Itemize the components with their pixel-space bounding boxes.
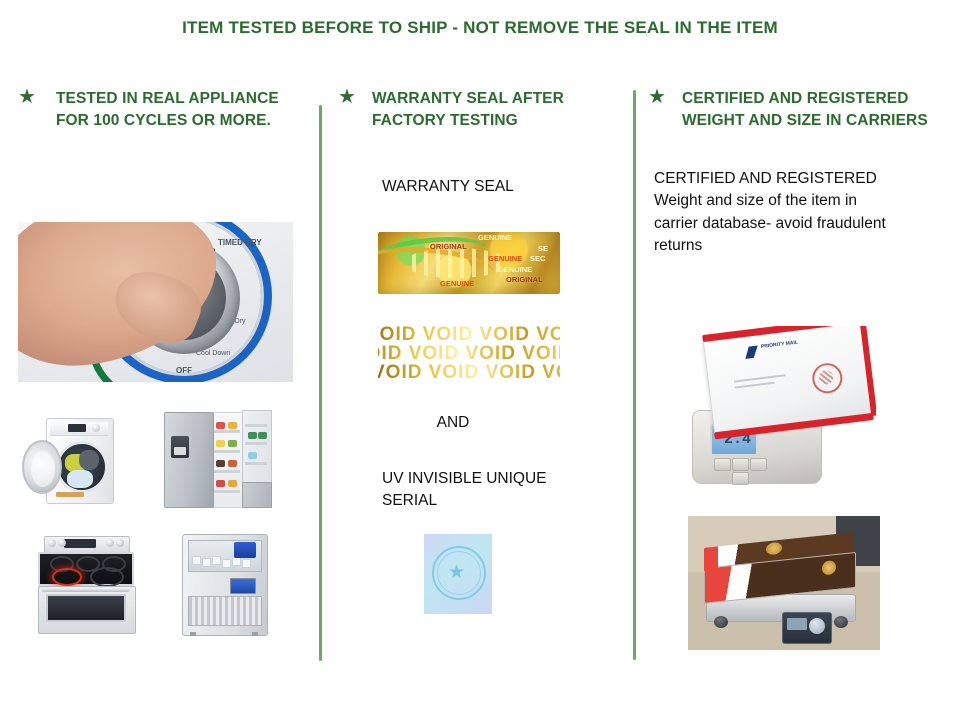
fridge-door-item <box>248 432 257 439</box>
holo-word: SE <box>538 244 548 253</box>
fridge-shelf <box>214 430 240 433</box>
fridge-door-item <box>248 452 257 459</box>
burner-active <box>52 568 82 586</box>
laundry-item <box>67 470 93 488</box>
uv-invisible-unique-serial-label: UV INVISIBLE UNIQUE SERIAL <box>382 468 562 513</box>
oven-handle <box>42 588 130 592</box>
fridge-shelf <box>214 450 240 453</box>
electric-range-thumb <box>30 534 140 634</box>
scale-button <box>732 458 749 471</box>
fridge-door-shelf <box>245 462 267 465</box>
laundry-item <box>79 450 99 470</box>
scale-button <box>732 472 749 485</box>
ice-machine-thumb <box>178 532 270 636</box>
star-icon: ★ <box>338 88 356 107</box>
washer-display <box>68 424 86 432</box>
fridge-door-shelf <box>245 442 267 445</box>
warranty-seal-label: WARRANTY SEAL <box>382 176 623 198</box>
column-1-heading-row: ★ TESTED IN REAL APPLIANCE FOR 100 CYCLE… <box>18 88 308 132</box>
fridge-water-dispenser <box>171 436 189 458</box>
dimensioner-screen <box>787 618 807 630</box>
dimensioner-dial <box>809 618 825 634</box>
void-row: VOID VOID VOID VOID VOID <box>378 362 560 384</box>
shipping-scale-with-box-photo: 2.4 PRIORITY MAIL <box>686 326 876 496</box>
holo-word: SEC <box>530 254 545 263</box>
ice-machine-foot <box>190 632 196 636</box>
ice-cube <box>222 559 231 568</box>
washer-drum <box>56 441 108 493</box>
fridge-item <box>216 480 225 487</box>
fridge-shelf <box>214 490 240 493</box>
dial-label-timed-dry: TIMED DRY <box>218 238 262 247</box>
fridge-door-shelf <box>245 424 267 427</box>
holo-word: GENUINE <box>488 254 522 263</box>
holo-word: GENUINE <box>498 265 532 274</box>
column-warranty-seal: ★ WARRANTY SEAL AFTER FACTORY TESTING WA… <box>338 88 623 198</box>
star-icon: ★ <box>648 88 666 107</box>
dial-label-off: OFF <box>176 366 192 375</box>
ice-cube <box>232 557 241 566</box>
washer-door <box>22 440 62 494</box>
scale-button <box>714 458 731 471</box>
fridge-item <box>228 440 237 447</box>
holo-word: ORIGINAL <box>506 275 543 284</box>
package-side <box>704 546 718 571</box>
washer-knob <box>92 424 100 432</box>
and-label: AND <box>338 412 568 434</box>
ice-machine-foot <box>252 632 258 636</box>
range-knob <box>116 539 124 547</box>
washing-machine-thumb <box>22 412 122 504</box>
fridge-item <box>228 422 237 429</box>
column-1-heading: TESTED IN REAL APPLIANCE FOR 100 CYCLES … <box>46 88 308 132</box>
column-3-heading: CERTIFIED AND REGISTERED WEIGHT AND SIZE… <box>676 88 948 132</box>
fridge-item <box>228 480 237 487</box>
dimensioner-display <box>782 612 832 644</box>
fridge-item <box>216 422 225 429</box>
oven-window <box>46 594 126 622</box>
ice-cube <box>212 556 221 565</box>
ice-machine-vent <box>188 596 262 626</box>
void-security-tape-image: VOID VOID VOID VOID VOID VOID VOID VOID … <box>378 322 560 384</box>
washer-badge <box>56 492 84 497</box>
fridge-right-base <box>242 482 272 508</box>
ice-machine-blue-panel <box>234 542 256 558</box>
uv-star-icon: ★ <box>448 563 465 582</box>
platform-foot <box>834 616 848 628</box>
holo-word: GENUINE <box>440 279 474 288</box>
fridge-item <box>216 440 225 447</box>
uv-invisible-stamp-image: ★ <box>424 534 492 614</box>
column-2-heading: WARRANTY SEAL AFTER FACTORY TESTING <box>366 88 623 132</box>
range-knob <box>106 539 114 547</box>
ice-cube <box>242 559 251 568</box>
column-certified-registered: ★ CERTIFIED AND REGISTERED WEIGHT AND SI… <box>648 88 948 257</box>
range-display <box>64 539 96 548</box>
range-knob <box>58 539 66 547</box>
column-divider-2 <box>633 90 636 660</box>
burner <box>90 567 124 587</box>
fridge-item <box>228 460 237 467</box>
range-knob <box>48 539 56 547</box>
column-2-heading-row: ★ WARRANTY SEAL AFTER FACTORY TESTING <box>338 88 623 132</box>
fridge-item <box>216 460 225 467</box>
holo-word: ORIGINAL <box>430 242 467 251</box>
hologram-warranty-seal-image: GENUINE ORIGINAL SE GENUINE SEC GENUINE … <box>378 232 560 294</box>
page-title: ITEM TESTED BEFORE TO SHIP - NOT REMOVE … <box>0 18 960 38</box>
holo-rings <box>404 248 508 278</box>
platform-foot <box>714 616 728 628</box>
star-icon: ★ <box>18 88 36 107</box>
column-divider-1 <box>319 105 322 661</box>
holo-word: GENUINE <box>478 233 512 242</box>
ice-cube <box>202 558 211 567</box>
fridge-right-door <box>242 410 272 484</box>
fridge-door-item <box>258 432 267 439</box>
column-3-body-text: CERTIFIED AND REGISTERED Weight and size… <box>654 168 894 257</box>
column-tested-in-real-appliance: ★ TESTED IN REAL APPLIANCE FOR 100 CYCLE… <box>18 88 308 132</box>
dimensioning-scale-photo <box>688 516 880 650</box>
scale-button <box>750 458 767 471</box>
usps-priority-box: PRIORITY MAIL <box>703 326 874 435</box>
ice-cube <box>192 556 201 565</box>
column-3-heading-row: ★ CERTIFIED AND REGISTERED WEIGHT AND SI… <box>648 88 948 132</box>
fridge-shelf <box>214 470 240 473</box>
dryer-dial-photo: TIMED DRY 70 60 50 40 30 20 Damp Dry Coo… <box>18 222 293 382</box>
fridge-left-door <box>164 412 214 508</box>
refrigerator-thumb <box>162 408 272 508</box>
ice-machine-display <box>230 578 256 594</box>
